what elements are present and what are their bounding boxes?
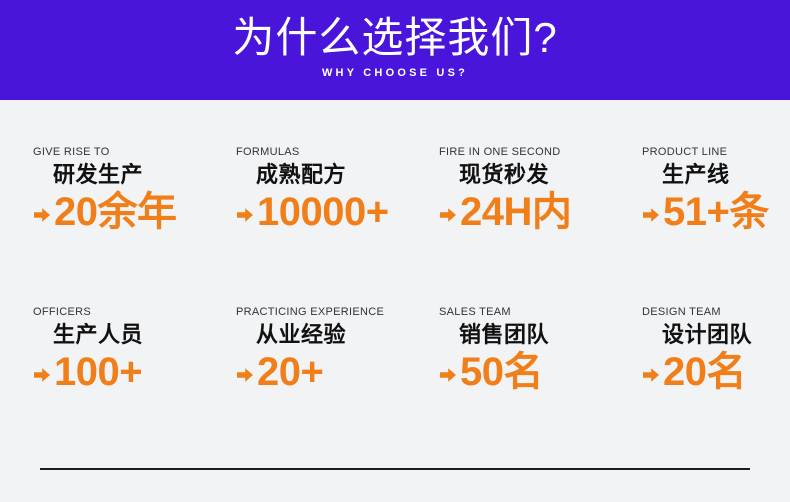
stat-title: 现货秒发 xyxy=(459,161,636,189)
stat-title: 从业经验 xyxy=(256,321,433,349)
why-choose-us-banner: 为什么选择我们? WHY CHOOSE US? GIVE RISE TO 研发生… xyxy=(0,0,790,502)
stat-eyebrow: GIVE RISE TO xyxy=(33,146,230,159)
stat-title: 成熟配方 xyxy=(256,161,433,189)
stat-item-fire-in-one-second: FIRE IN ONE SECOND 现货秒发 24H内 xyxy=(439,146,636,296)
stat-value-row: 20余年 xyxy=(33,189,230,235)
stat-title: 生产线 xyxy=(662,161,790,189)
stat-value: 10000+ xyxy=(257,189,389,235)
arrow-right-icon xyxy=(642,366,660,384)
arrow-right-icon xyxy=(439,206,457,224)
stat-item-give-rise-to: GIVE RISE TO 研发生产 20余年 xyxy=(33,146,230,296)
stats-grid: GIVE RISE TO 研发生产 20余年 FORMULAS 成熟配方 100… xyxy=(0,100,790,430)
stat-value: 50名 xyxy=(460,349,543,395)
page-subtitle: WHY CHOOSE US? xyxy=(322,67,468,80)
stat-eyebrow: FORMULAS xyxy=(236,146,433,159)
stat-title: 销售团队 xyxy=(459,321,636,349)
stat-eyebrow: OFFICERS xyxy=(33,306,230,319)
arrow-right-icon xyxy=(236,206,254,224)
stat-eyebrow: PRODUCT LINE xyxy=(642,146,790,159)
stat-eyebrow: DESIGN TEAM xyxy=(642,306,790,319)
stat-title: 设计团队 xyxy=(662,321,790,349)
stat-title: 研发生产 xyxy=(53,161,230,189)
arrow-right-icon xyxy=(33,366,51,384)
stat-value: 51+条 xyxy=(663,189,769,235)
stat-value-row: 51+条 xyxy=(642,189,790,235)
stat-value: 20名 xyxy=(663,349,746,395)
page-title: 为什么选择我们? xyxy=(232,14,557,62)
stat-item-officers: OFFICERS 生产人员 100+ xyxy=(33,306,230,456)
stat-value-row: 100+ xyxy=(33,349,230,395)
arrow-right-icon xyxy=(439,366,457,384)
stat-value: 20+ xyxy=(257,349,323,395)
stat-item-sales-team: SALES TEAM 销售团队 50名 xyxy=(439,306,636,456)
banner-header: 为什么选择我们? WHY CHOOSE US? xyxy=(0,0,790,100)
stat-value: 100+ xyxy=(54,349,142,395)
stat-item-design-team: DESIGN TEAM 设计团队 20名 xyxy=(642,306,790,456)
stat-value-row: 24H内 xyxy=(439,189,636,235)
stat-eyebrow: FIRE IN ONE SECOND xyxy=(439,146,636,159)
arrow-right-icon xyxy=(642,206,660,224)
stat-eyebrow: SALES TEAM xyxy=(439,306,636,319)
stat-value: 20余年 xyxy=(54,189,177,235)
stat-value-row: 10000+ xyxy=(236,189,433,235)
stat-value-row: 50名 xyxy=(439,349,636,395)
stat-item-practicing-experience: PRACTICING EXPERIENCE 从业经验 20+ xyxy=(236,306,433,456)
stat-title: 生产人员 xyxy=(53,321,230,349)
stat-eyebrow: PRACTICING EXPERIENCE xyxy=(236,306,433,319)
stat-value-row: 20+ xyxy=(236,349,433,395)
bottom-divider xyxy=(40,468,750,470)
stat-value-row: 20名 xyxy=(642,349,790,395)
stat-item-formulas: FORMULAS 成熟配方 10000+ xyxy=(236,146,433,296)
stat-value: 24H内 xyxy=(460,189,571,235)
arrow-right-icon xyxy=(236,366,254,384)
arrow-right-icon xyxy=(33,206,51,224)
stat-item-product-line: PRODUCT LINE 生产线 51+条 xyxy=(642,146,790,296)
